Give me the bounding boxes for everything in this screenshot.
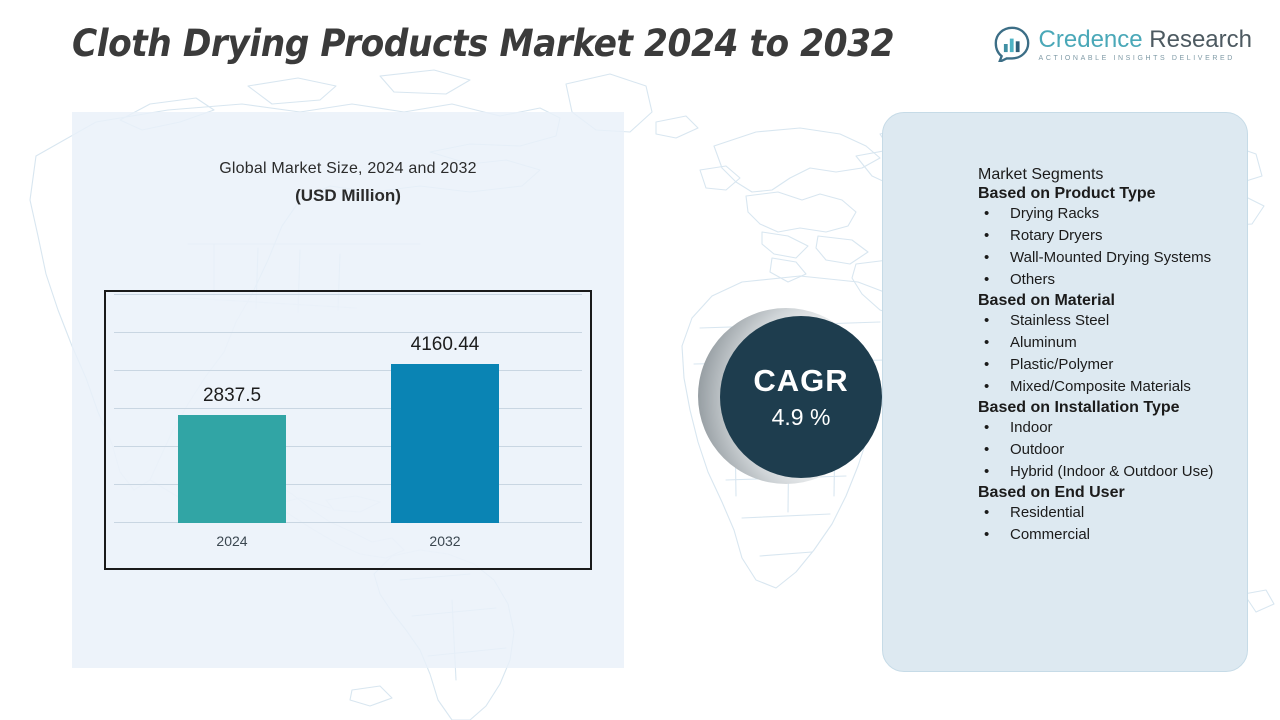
market-segments: Market Segments Based on Product Type•Dr… bbox=[978, 166, 1258, 546]
segment-list-item: •Hybrid (Indoor & Outdoor Use) bbox=[978, 461, 1258, 483]
logo-name-secondary: Research bbox=[1149, 26, 1252, 53]
bullet-icon: • bbox=[984, 247, 989, 269]
cagr-label: CAGR bbox=[753, 365, 848, 396]
bullet-icon: • bbox=[984, 310, 989, 332]
segment-list-item: •Aluminum bbox=[978, 332, 1258, 354]
bullet-icon: • bbox=[984, 332, 989, 354]
segment-list: •Drying Racks•Rotary Dryers•Wall-Mounted… bbox=[978, 203, 1258, 291]
chart-bar: 4160.442032 bbox=[391, 364, 499, 523]
chart-bar-rect bbox=[391, 364, 499, 523]
cagr-badge: CAGR 4.9 % bbox=[698, 308, 888, 488]
chart-category-label: 2032 bbox=[429, 533, 460, 549]
bullet-icon: • bbox=[984, 461, 989, 483]
segment-list: •Indoor•Outdoor•Hybrid (Indoor & Outdoor… bbox=[978, 417, 1258, 483]
chart-bar: 2837.52024 bbox=[178, 415, 286, 523]
chart-heading-line1: Global Market Size, 2024 and 2032 bbox=[72, 160, 624, 178]
chart-category-label: 2024 bbox=[216, 533, 247, 549]
bullet-icon: • bbox=[984, 417, 989, 439]
bullet-icon: • bbox=[984, 524, 989, 546]
segment-list-item: •Commercial bbox=[978, 524, 1258, 546]
segment-list: •Stainless Steel•Aluminum•Plastic/Polyme… bbox=[978, 310, 1258, 398]
logo-tagline: Actionable Insights Delivered bbox=[1039, 55, 1252, 62]
segment-list-item: •Rotary Dryers bbox=[978, 225, 1258, 247]
segment-list-item: •Residential bbox=[978, 502, 1258, 524]
chart-bar-rect bbox=[178, 415, 286, 523]
segment-list-item: •Mixed/Composite Materials bbox=[978, 376, 1258, 398]
chart-bar-value-label: 4160.44 bbox=[411, 334, 480, 356]
infographic-canvas: Cloth Drying Products Market 2024 to 203… bbox=[0, 0, 1280, 720]
chart-heading: Global Market Size, 2024 and 2032 (USD M… bbox=[72, 160, 624, 206]
bullet-icon: • bbox=[984, 203, 989, 225]
segments-title: Market Segments bbox=[978, 166, 1258, 184]
chart-bar-value-label: 2837.5 bbox=[203, 385, 261, 407]
cagr-value: 4.9 % bbox=[772, 406, 831, 429]
logo-name-primary: Credence bbox=[1039, 26, 1143, 53]
segment-list-item: •Indoor bbox=[978, 417, 1258, 439]
chart-gridline bbox=[114, 294, 582, 295]
chart-gridline bbox=[114, 408, 582, 409]
bullet-icon: • bbox=[984, 502, 989, 524]
cagr-circle: CAGR 4.9 % bbox=[720, 316, 882, 478]
chart-plot-area: 2837.520244160.442032 bbox=[106, 292, 590, 568]
bullet-icon: • bbox=[984, 269, 989, 291]
chart-gridline bbox=[114, 370, 582, 371]
segment-list-item: •Drying Racks bbox=[978, 203, 1258, 225]
segment-list-item: •Wall-Mounted Drying Systems bbox=[978, 247, 1258, 269]
brand-logo: Credence Research Actionable Insights De… bbox=[994, 26, 1252, 62]
page-title: Cloth Drying Products Market 2024 to 203… bbox=[72, 22, 894, 65]
bullet-icon: • bbox=[984, 225, 989, 247]
segment-group-heading: Based on Material bbox=[978, 292, 1258, 310]
segment-groups: Based on Product Type•Drying Racks•Rotar… bbox=[978, 185, 1258, 546]
segment-group-heading: Based on Installation Type bbox=[978, 399, 1258, 417]
segment-list-item: •Others bbox=[978, 269, 1258, 291]
chart-gridline bbox=[114, 332, 582, 333]
bar-chart: 2837.520244160.442032 bbox=[104, 290, 592, 570]
bar-chart-circle-icon bbox=[994, 26, 1030, 62]
segment-list-item: •Plastic/Polymer bbox=[978, 354, 1258, 376]
bullet-icon: • bbox=[984, 376, 989, 398]
segment-list-item: •Outdoor bbox=[978, 439, 1258, 461]
segment-group-heading: Based on End User bbox=[978, 484, 1258, 502]
segment-list-item: •Stainless Steel bbox=[978, 310, 1258, 332]
bullet-icon: • bbox=[984, 354, 989, 376]
segment-list: •Residential•Commercial bbox=[978, 502, 1258, 546]
segment-group-heading: Based on Product Type bbox=[978, 185, 1258, 203]
chart-heading-line2: (USD Million) bbox=[72, 186, 624, 206]
bullet-icon: • bbox=[984, 439, 989, 461]
